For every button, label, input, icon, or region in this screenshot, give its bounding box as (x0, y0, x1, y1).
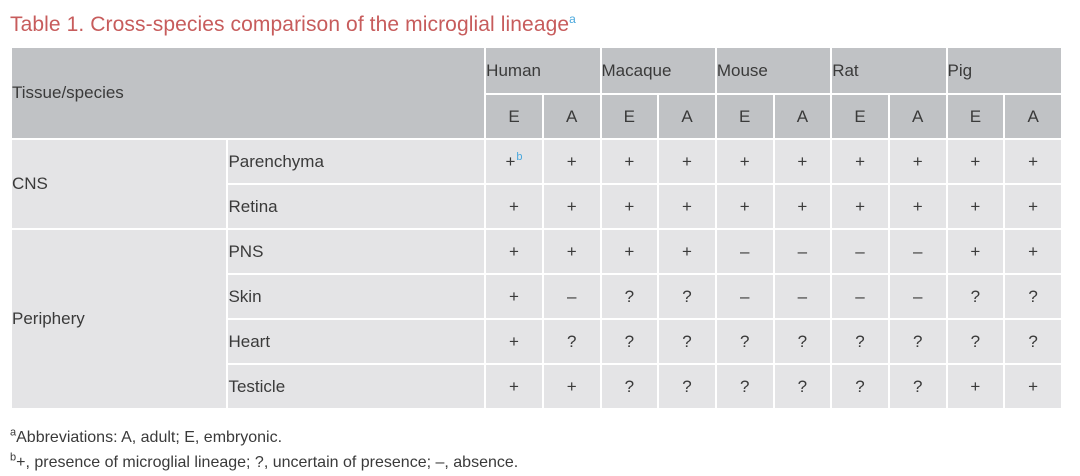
value-skin-pig-e: ? (948, 275, 1004, 318)
value-pns-mouse-e: – (717, 230, 773, 273)
value-skin-macaque-e: ? (602, 275, 658, 318)
value-testicle-macaque-e: ? (602, 365, 658, 408)
header-species-human: Human (486, 48, 599, 93)
header-species-macaque: Macaque (602, 48, 715, 93)
value-retina-pig-a: + (1005, 185, 1061, 228)
value-heart-human-a: ? (544, 320, 600, 363)
title-footnote-marker: a (569, 12, 576, 26)
group-label-cns: CNS (12, 140, 226, 228)
value-testicle-rat-a: ? (890, 365, 946, 408)
header-species-rat: Rat (832, 48, 945, 93)
value-parenchyma-human-e: +b (486, 140, 542, 183)
value-parenchyma-mouse-a: + (775, 140, 831, 183)
header-stage-human-e: E (486, 95, 542, 138)
value-retina-rat-e: + (832, 185, 888, 228)
value-retina-pig-e: + (948, 185, 1004, 228)
value-pns-pig-e: + (948, 230, 1004, 273)
value-pns-macaque-a: + (659, 230, 715, 273)
value-retina-human-a: + (544, 185, 600, 228)
value-parenchyma-macaque-e: + (602, 140, 658, 183)
value-parenchyma-macaque-a: + (659, 140, 715, 183)
value-skin-rat-a: – (890, 275, 946, 318)
value-retina-macaque-a: + (659, 185, 715, 228)
value-heart-rat-e: ? (832, 320, 888, 363)
value-pns-human-a: + (544, 230, 600, 273)
value-heart-human-e: + (486, 320, 542, 363)
value-heart-rat-a: ? (890, 320, 946, 363)
footnote-b: b+, presence of microglial lineage; ?, u… (10, 451, 1070, 476)
footnote-a: aAbbreviations: A, adult; E, embryonic. (10, 426, 1070, 451)
value-heart-mouse-e: ? (717, 320, 773, 363)
value-retina-mouse-a: + (775, 185, 831, 228)
value-parenchyma-pig-a: + (1005, 140, 1061, 183)
table-footnotes: aAbbreviations: A, adult; E, embryonic. … (10, 410, 1070, 476)
value-heart-macaque-a: ? (659, 320, 715, 363)
value-testicle-macaque-a: ? (659, 365, 715, 408)
header-stage-mouse-a: A (775, 95, 831, 138)
value-pns-human-e: + (486, 230, 542, 273)
group-label-periphery: Periphery (12, 230, 226, 408)
value-parenchyma-human-a: + (544, 140, 600, 183)
value-testicle-mouse-e: ? (717, 365, 773, 408)
tissue-label-retina: Retina (228, 185, 484, 228)
value-retina-macaque-e: + (602, 185, 658, 228)
table-row: CNS Parenchyma +b + + + + + + + + + (12, 140, 1061, 183)
table-figure: Table 1. Cross-species comparison of the… (0, 0, 1080, 475)
value-skin-mouse-e: – (717, 275, 773, 318)
value-heart-pig-e: ? (948, 320, 1004, 363)
tissue-label-parenchyma: Parenchyma (228, 140, 484, 183)
cell-footnote-marker: b (516, 151, 522, 163)
value-retina-mouse-e: + (717, 185, 773, 228)
value-heart-macaque-e: ? (602, 320, 658, 363)
header-stage-mouse-e: E (717, 95, 773, 138)
value-skin-pig-a: ? (1005, 275, 1061, 318)
value-pns-mouse-a: – (775, 230, 831, 273)
header-stage-macaque-e: E (602, 95, 658, 138)
value-skin-rat-e: – (832, 275, 888, 318)
footnote-a-text: Abbreviations: A, adult; E, embryonic. (16, 429, 282, 446)
value-skin-human-e: + (486, 275, 542, 318)
value-testicle-human-a: + (544, 365, 600, 408)
tissue-label-pns: PNS (228, 230, 484, 273)
footnote-b-text: +, presence of microglial lineage; ?, un… (16, 454, 518, 471)
value-testicle-pig-a: + (1005, 365, 1061, 408)
value-testicle-human-e: + (486, 365, 542, 408)
header-stage-rat-e: E (832, 95, 888, 138)
value-parenchyma-rat-e: + (832, 140, 888, 183)
value-skin-macaque-a: ? (659, 275, 715, 318)
header-stage-rat-a: A (890, 95, 946, 138)
value-testicle-mouse-a: ? (775, 365, 831, 408)
value-pns-pig-a: + (1005, 230, 1061, 273)
value-skin-human-a: – (544, 275, 600, 318)
header-stage-pig-e: E (948, 95, 1004, 138)
table-row: Periphery PNS + + + + – – – – + + (12, 230, 1061, 273)
value-testicle-rat-e: ? (832, 365, 888, 408)
header-row-species: Tissue/species Human Macaque Mouse Rat P… (12, 48, 1061, 93)
table-title-text: Table 1. Cross-species comparison of the… (10, 13, 569, 36)
value-parenchyma-mouse-e: + (717, 140, 773, 183)
tissue-label-skin: Skin (228, 275, 484, 318)
header-tissue-species: Tissue/species (12, 48, 484, 138)
value-pns-rat-e: – (832, 230, 888, 273)
value-pns-macaque-e: + (602, 230, 658, 273)
value-pns-rat-a: – (890, 230, 946, 273)
comparison-table: Tissue/species Human Macaque Mouse Rat P… (10, 46, 1063, 410)
header-species-pig: Pig (948, 48, 1061, 93)
header-stage-human-a: A (544, 95, 600, 138)
value-heart-pig-a: ? (1005, 320, 1061, 363)
value-parenchyma-pig-e: + (948, 140, 1004, 183)
header-stage-pig-a: A (1005, 95, 1061, 138)
value-retina-rat-a: + (890, 185, 946, 228)
tissue-label-testicle: Testicle (228, 365, 484, 408)
tissue-label-heart: Heart (228, 320, 484, 363)
value-parenchyma-rat-a: + (890, 140, 946, 183)
value-testicle-pig-e: + (948, 365, 1004, 408)
header-stage-macaque-a: A (659, 95, 715, 138)
value-heart-mouse-a: ? (775, 320, 831, 363)
table-body: CNS Parenchyma +b + + + + + + + + + Reti… (12, 140, 1061, 408)
page-title: Table 1. Cross-species comparison of the… (10, 0, 1070, 46)
table-header: Tissue/species Human Macaque Mouse Rat P… (12, 48, 1061, 138)
value-skin-mouse-a: – (775, 275, 831, 318)
value-retina-human-e: + (486, 185, 542, 228)
header-species-mouse: Mouse (717, 48, 830, 93)
